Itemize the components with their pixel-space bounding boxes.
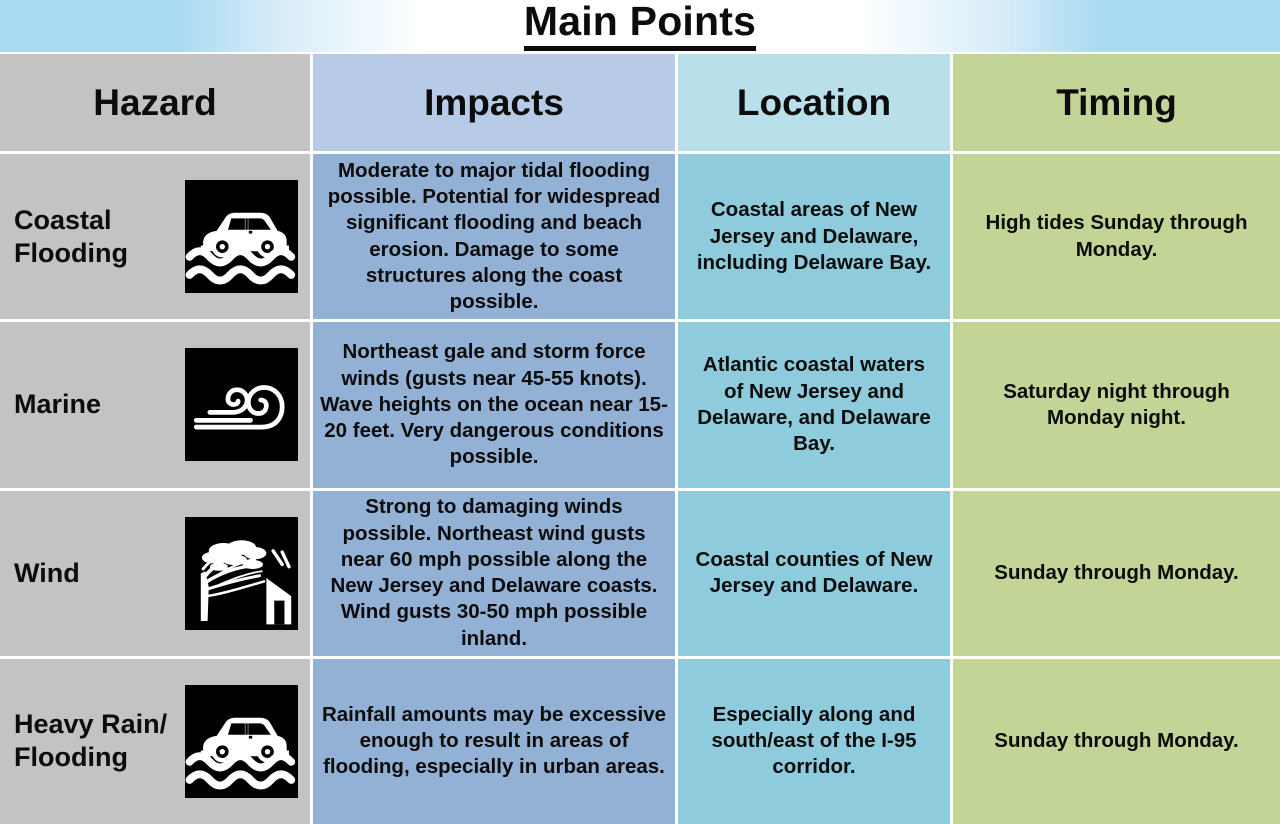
- timing-text: Sunday through Monday.: [953, 556, 1280, 590]
- impacts-cell: Northeast gale and storm force winds (gu…: [313, 322, 675, 487]
- hazard-label: Coastal Flooding: [14, 204, 182, 270]
- location-text: Coastal areas of New Jersey and Delaware…: [678, 193, 950, 280]
- location-cell: Atlantic coastal waters of New Jersey an…: [678, 322, 950, 487]
- table-row: Wind: [0, 491, 1280, 656]
- main-points-slide: Main Points Hazard Impacts Location Timi…: [0, 0, 1280, 824]
- hazard-cell: Coastal Flooding: [0, 154, 310, 319]
- page-title: Main Points: [524, 1, 756, 51]
- hazard-label: Heavy Rain/ Flooding: [14, 708, 182, 774]
- timing-cell: High tides Sunday through Monday.: [953, 154, 1280, 319]
- windblown-tree-icon: [185, 517, 298, 630]
- column-header-timing: Timing: [953, 54, 1280, 151]
- timing-text: Saturday night through Monday night.: [953, 375, 1280, 435]
- hazard-cell: Heavy Rain/ Flooding: [0, 659, 310, 824]
- column-header-label: Timing: [1056, 84, 1177, 121]
- column-header-label: Hazard: [93, 84, 216, 121]
- title-banner: Main Points: [0, 0, 1280, 52]
- location-text: Especially along and south/east of the I…: [678, 698, 950, 785]
- hazard-cell: Marine: [0, 322, 310, 487]
- location-cell: Coastal areas of New Jersey and Delaware…: [678, 154, 950, 319]
- column-header-label: Location: [737, 84, 891, 121]
- timing-cell: Sunday through Monday.: [953, 491, 1280, 656]
- hazard-cell: Wind: [0, 491, 310, 656]
- location-cell: Especially along and south/east of the I…: [678, 659, 950, 824]
- location-text: Atlantic coastal waters of New Jersey an…: [678, 348, 950, 461]
- impacts-text: Northeast gale and storm force winds (gu…: [313, 335, 675, 474]
- table-header-row: Hazard Impacts Location Timing: [0, 54, 1280, 151]
- impacts-cell: Strong to damaging winds possible. North…: [313, 491, 675, 656]
- table-row: Marine Northeast gale and: [0, 322, 1280, 487]
- impacts-text: Rainfall amounts may be excessive enough…: [313, 698, 675, 785]
- column-header-location: Location: [678, 54, 950, 151]
- impacts-text: Moderate to major tidal flooding possibl…: [313, 154, 675, 319]
- wind-swirl-icon: [185, 348, 298, 461]
- column-header-label: Impacts: [424, 84, 564, 121]
- timing-text: High tides Sunday through Monday.: [953, 206, 1280, 266]
- car-in-floodwater-icon: [185, 685, 298, 798]
- car-in-floodwater-icon: [185, 180, 298, 293]
- hazard-table: Hazard Impacts Location Timing Coastal F…: [0, 54, 1280, 824]
- impacts-cell: Moderate to major tidal flooding possibl…: [313, 154, 675, 319]
- location-cell: Coastal counties of New Jersey and Delaw…: [678, 491, 950, 656]
- table-row: Coastal Flooding: [0, 154, 1280, 319]
- column-header-hazard: Hazard: [0, 54, 310, 151]
- impacts-cell: Rainfall amounts may be excessive enough…: [313, 659, 675, 824]
- hazard-label: Wind: [14, 557, 80, 590]
- location-text: Coastal counties of New Jersey and Delaw…: [678, 543, 950, 603]
- column-header-impacts: Impacts: [313, 54, 675, 151]
- hazard-label: Marine: [14, 388, 101, 421]
- timing-cell: Saturday night through Monday night.: [953, 322, 1280, 487]
- table-row: Heavy Rain/ Flooding: [0, 659, 1280, 824]
- timing-cell: Sunday through Monday.: [953, 659, 1280, 824]
- impacts-text: Strong to damaging winds possible. North…: [313, 491, 675, 656]
- timing-text: Sunday through Monday.: [953, 724, 1280, 758]
